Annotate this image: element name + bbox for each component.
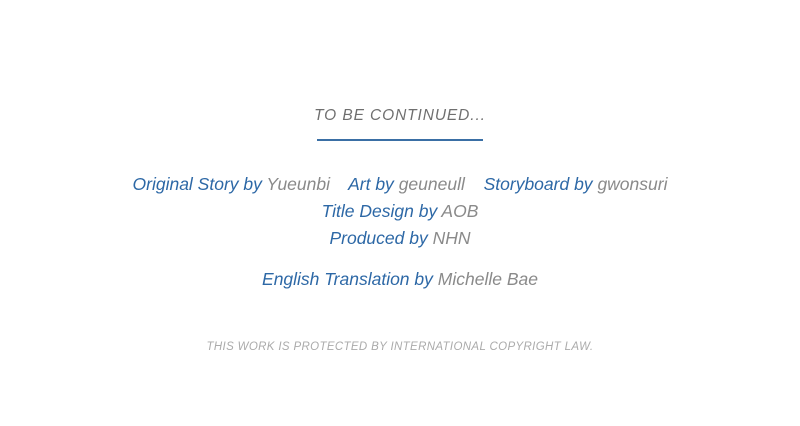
to-be-continued-block: TO BE CONTINUED... [0,106,800,141]
copyright-block: THIS WORK IS PROTECTED BY INTERNATIONAL … [0,339,800,355]
end-card-page: TO BE CONTINUED... Original Story by Yue… [0,0,800,426]
copyright-notice: THIS WORK IS PROTECTED BY INTERNATIONAL … [0,339,800,355]
credits-block: Original Story by Yueunbi Art by geuneul… [0,171,800,293]
credit-line-title-design: Title Design by AOB [0,198,800,225]
credit-name-title-design: AOB [441,201,478,221]
to-be-continued-text: TO BE CONTINUED... [0,106,800,126]
credit-role-storyboard: Storyboard by [484,174,593,194]
credit-role-art: Art by [348,174,394,194]
credit-name-english-translation: Michelle Bae [438,269,538,289]
credit-name-produced: NHN [433,228,471,248]
divider-rule [317,139,483,141]
credit-role-produced: Produced by [329,228,427,248]
credit-name-storyboard: gwonsuri [597,174,667,194]
credit-role-title-design: Title Design by [322,201,438,221]
credit-name-art: geuneull [399,174,465,194]
credit-line-produced: Produced by NHN [0,225,800,252]
credit-role-english-translation: English Translation by [262,269,433,289]
credit-line-primary: Original Story by Yueunbi Art by geuneul… [0,171,800,198]
credit-name-original-story: Yueunbi [266,174,330,194]
credit-role-original-story: Original Story by [133,174,262,194]
credit-line-translation: English Translation by Michelle Bae [0,266,800,293]
